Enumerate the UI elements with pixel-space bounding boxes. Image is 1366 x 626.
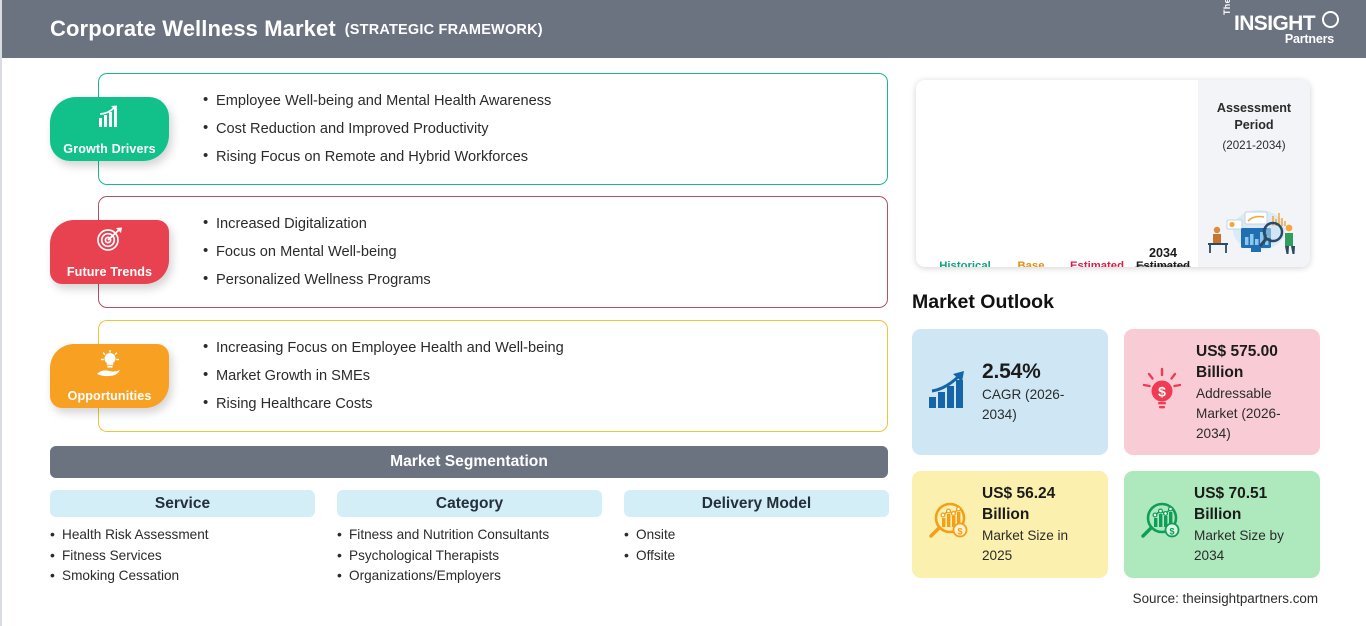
outlook-value-unit: Billion [1194,504,1310,525]
outlook-value: US$ 70.51 [1194,483,1310,504]
segmentation-item-list: Health Risk Assessment Fitness Services … [50,525,315,587]
bar-caption: Estimated Start Year [1070,260,1124,267]
list-item: Organizations/Employers [337,566,602,587]
list-item: Market Growth in SMEs [203,362,903,390]
outlook-card-market-size-2034: $ US$ 70.51 Billion Market Size by 2034 [1124,471,1320,578]
bar-caption: Base Year [1017,260,1044,267]
logo-the-text: The [1222,0,1232,15]
assessment-title-line2: Period [1234,118,1273,132]
assessment-period-range: (2021-2034) [1198,139,1310,152]
segmentation-column-delivery-model: Delivery Model Onsite Offsite [624,490,889,566]
panel-future-trends: Increased Digitalization Focus on Mental… [98,196,888,308]
list-item: Offsite [624,546,889,567]
outlook-label: Market Size in 2025 [982,526,1098,566]
assessment-period-panel: Assessment Period (2021-2034) [1198,80,1310,267]
outlook-label: CAGR (2026-2034) [982,385,1098,425]
badge-future-trends[interactable]: Future Trends [50,220,169,284]
list-item: Psychological Therapists [337,546,602,567]
list-item: Increased Digitalization [203,210,903,238]
outlook-value-unit: Billion [1196,362,1310,383]
bar-caption: Estimated End Year [1136,260,1190,267]
future-trends-bullet-list: Increased Digitalization Focus on Mental… [203,210,903,294]
assessment-bar-chart: 2021-2024 Historical [930,80,1190,267]
badge-growth-drivers[interactable]: Growth Drivers [50,97,169,161]
outlook-card-text: US$ 56.24 Billion Market Size in 2025 [982,483,1108,566]
growth-drivers-bullet-list: Employee Well-being and Mental Health Aw… [203,87,903,171]
page-subtitle: (STRATEGIC FRAMEWORK) [345,22,543,38]
list-item: Focus on Mental Well-being [203,238,903,266]
segmentation-column-service: Service Health Risk Assessment Fitness S… [50,490,315,587]
list-item: Cost Reduction and Improved Productivity [203,115,903,143]
data-analysis-illustration [1203,194,1305,261]
badge-opportunities[interactable]: Opportunities [50,344,169,408]
outlook-value-unit: Billion [982,504,1098,525]
list-item: Employee Well-being and Mental Health Aw… [203,87,903,115]
segmentation-column-category: Category Fitness and Nutrition Consultan… [337,490,602,587]
outlook-card-addressable-market: $ US$ 575.00 Billion Addressable Market … [1124,329,1320,455]
outlook-card-market-size-2025: $ US$ 56.24 Billion Market Size in 2025 [912,471,1108,578]
panel-growth-drivers: Employee Well-being and Mental Health Aw… [98,73,888,185]
badge-label: Growth Drivers [63,142,155,156]
list-item: Smoking Cessation [50,566,315,587]
outlook-label: Addressable Market (2026-2034) [1196,384,1310,444]
bar-chart-arrow-up-icon [926,369,972,416]
svg-text:$: $ [1169,527,1174,537]
list-item: Fitness Services [50,546,315,567]
outlook-value: US$ 575.00 [1196,341,1310,362]
bar-caption-line1: Historical [939,260,990,267]
market-segmentation-bar: Market Segmentation [50,446,888,478]
segmentation-header: Service [50,490,315,517]
segmentation-header: Category [337,490,602,517]
lightbulb-dollar-icon: $ [1138,367,1186,418]
outlook-value: US$ 56.24 [982,483,1098,504]
svg-text:$: $ [1158,383,1166,399]
list-item: Health Risk Assessment [50,525,315,546]
list-item: Increasing Focus on Employee Health and … [203,334,903,362]
panel-opportunities: Increasing Focus on Employee Health and … [98,320,888,432]
outlook-label: Market Size by 2034 [1194,526,1310,566]
assessment-period-card: 2021-2024 Historical [916,80,1310,267]
segmentation-header-label: Category [436,495,503,513]
outlook-card-cagr: 2.54% CAGR (2026-2034) [912,329,1108,455]
bar-caption-line1: Estimated [1070,260,1124,267]
lightbulb-in-hand-icon [93,350,127,383]
bar-caption-line1: Estimated [1136,260,1190,267]
segmentation-item-list: Fitness and Nutrition Consultants Psycho… [337,525,602,587]
logo-ring-icon [1322,11,1339,28]
segmentation-header: Delivery Model [624,490,889,517]
outlook-card-text: US$ 70.51 Billion Market Size by 2034 [1194,483,1320,566]
opportunities-bullet-list: Increasing Focus on Employee Health and … [203,334,903,418]
badge-label: Opportunities [68,389,152,403]
insight-partners-logo: The INSIGHT Partners [1222,8,1340,50]
assessment-period-title: Assessment Period [1198,100,1310,134]
list-item: Rising Focus on Remote and Hybrid Workfo… [203,143,903,171]
bar-caption-line1: Base [1017,260,1044,267]
magnifier-chart-dollar-icon: $ [926,500,972,549]
bar-year-label: 2034 [1149,246,1177,260]
target-dartboard-icon [95,226,125,258]
list-item: Personalized Wellness Programs [203,266,903,294]
page-header: Corporate Wellness Market (STRATEGIC FRA… [2,0,1366,58]
source-attribution: Source: theinsightpartners.com [1133,591,1318,606]
bar-caption: Historical Years [939,260,990,267]
svg-text:$: $ [957,527,962,537]
outlook-card-text: 2.54% CAGR (2026-2034) [982,360,1108,425]
segmentation-item-list: Onsite Offsite [624,525,889,566]
infographic-page: Corporate Wellness Market (STRATEGIC FRA… [0,0,1366,626]
bar-chart-growth-icon [95,103,125,134]
market-outlook-title: Market Outlook [912,291,1054,314]
assessment-title-line1: Assessment [1217,101,1291,115]
list-item: Rising Healthcare Costs [203,390,903,418]
page-title: Corporate Wellness Market [50,16,336,42]
logo-partners-text: Partners [1285,32,1334,46]
outlook-card-text: US$ 575.00 Billion Addressable Market (2… [1196,341,1320,444]
market-segmentation-title: Market Segmentation [390,453,548,471]
list-item: Onsite [624,525,889,546]
list-item: Fitness and Nutrition Consultants [337,525,602,546]
segmentation-header-label: Delivery Model [702,495,811,513]
badge-label: Future Trends [67,265,152,279]
outlook-value: 2.54% [982,360,1098,384]
segmentation-header-label: Service [155,495,210,513]
magnifier-chart-dollar-icon: $ [1138,500,1184,549]
